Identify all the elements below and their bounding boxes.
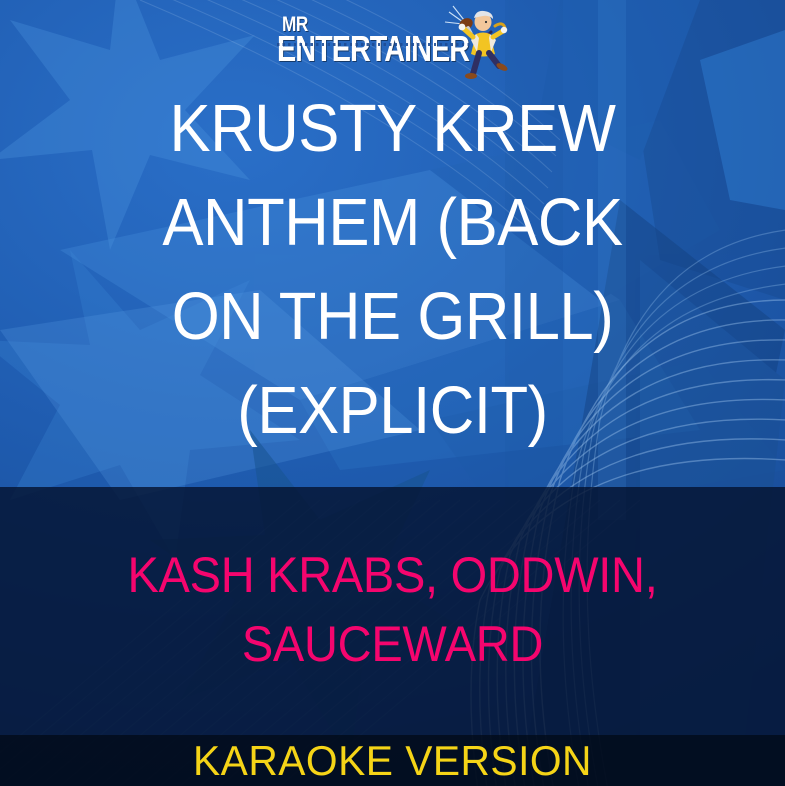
artist-name-line-1: KASH KRABS, ODDWIN, <box>46 541 739 610</box>
song-title: KRUSTY KREW ANTHEM (BACK ON THE GRILL) (… <box>57 82 728 458</box>
song-title-line-4: (EXPLICIT) <box>57 364 728 458</box>
song-title-line-2: ANTHEM (BACK <box>57 176 728 270</box>
mr-entertainer-logo: MR ENTERTAINER <box>0 6 785 82</box>
artist-name-line-2: SAUCEWARD <box>46 610 739 679</box>
karaoke-version-label: KARAOKE VERSION <box>12 737 773 785</box>
artist-name: KASH KRABS, ODDWIN, SAUCEWARD <box>46 541 739 679</box>
entertainer-mascot-icon <box>433 4 519 80</box>
karaoke-cover-art: MR ENTERTAINER <box>0 0 785 786</box>
song-title-line-1: KRUSTY KREW <box>57 82 728 176</box>
song-title-line-3: ON THE GRILL) <box>57 270 728 364</box>
